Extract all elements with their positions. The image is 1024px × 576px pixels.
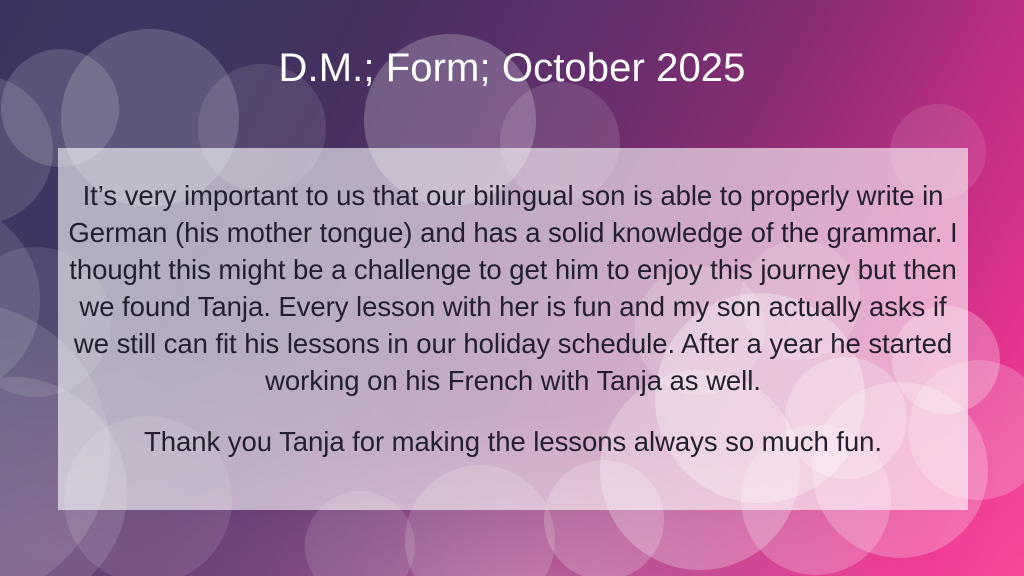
testimonial-panel: It’s very important to us that our bilin… [58, 148, 968, 510]
testimonial-closing-line: Thank you Tanja for making the lessons a… [64, 424, 962, 461]
testimonial-paragraph: It’s very important to us that our bilin… [64, 178, 962, 400]
slide-canvas: D.M.; Form; October 2025 It’s very impor… [0, 0, 1024, 576]
page-title: D.M.; Form; October 2025 [0, 46, 1024, 91]
